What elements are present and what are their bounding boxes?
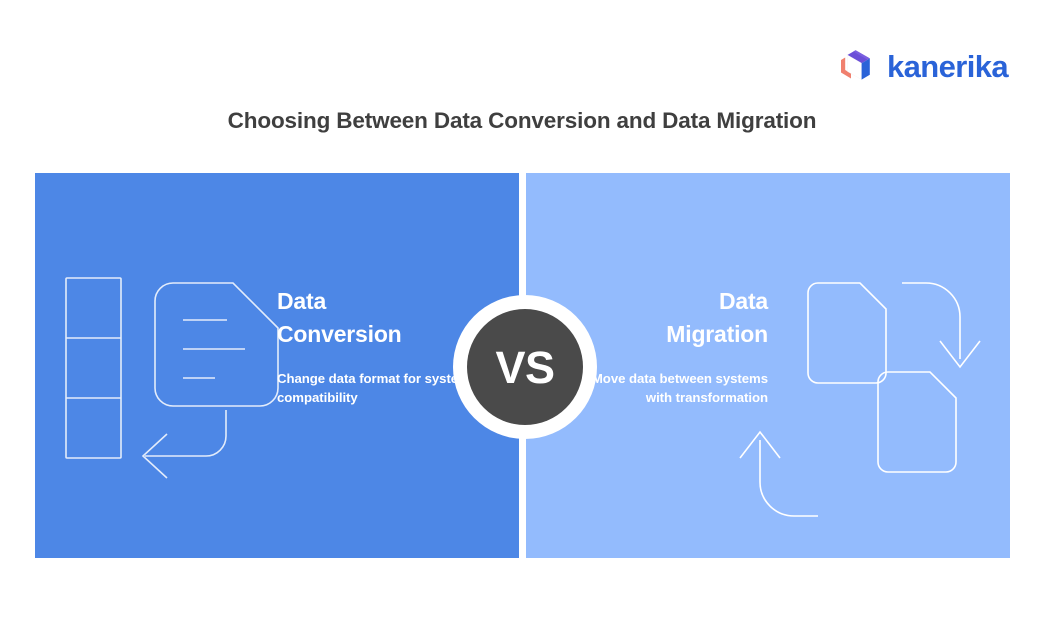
panel-data-conversion: Data Conversion Change data format for s… — [35, 173, 519, 558]
versus-badge-circle: VS — [467, 309, 583, 425]
document-lines-icon — [155, 283, 278, 406]
panel-data-migration: Data Migration Move data between systems… — [526, 173, 1010, 558]
versus-label: VS — [495, 345, 554, 390]
left-panel-text: Data Conversion Change data format for s… — [277, 285, 477, 407]
document-icon-top-left — [808, 283, 886, 383]
document-icon-bottom-right — [878, 372, 956, 472]
right-panel-description: Move data between systems with transform… — [568, 370, 768, 406]
left-panel-heading-line-1: Data — [277, 285, 477, 318]
cube-logo-icon — [836, 46, 876, 86]
left-panel-description: Change data format for system compatibil… — [277, 370, 477, 406]
right-panel-heading: Data Migration — [568, 285, 768, 350]
versus-badge: VS — [453, 295, 597, 439]
infographic-canvas: kanerika Choosing Between Data Conversio… — [0, 0, 1044, 620]
return-arrow-left-icon — [143, 410, 226, 478]
page-title: Choosing Between Data Conversion and Dat… — [0, 108, 1044, 134]
arrow-curve-down-icon — [902, 283, 980, 367]
left-panel-heading-line-2: Conversion — [277, 318, 477, 351]
brand-logo: kanerika — [836, 46, 1008, 86]
right-panel-heading-line-2: Migration — [568, 318, 768, 351]
left-panel-heading: Data Conversion — [277, 285, 477, 350]
arrow-curve-up-icon — [740, 432, 818, 516]
database-stack-icon — [66, 278, 121, 458]
brand-wordmark: kanerika — [887, 51, 1008, 82]
right-panel-text: Data Migration Move data between systems… — [568, 285, 768, 407]
right-panel-heading-line-1: Data — [568, 285, 768, 318]
